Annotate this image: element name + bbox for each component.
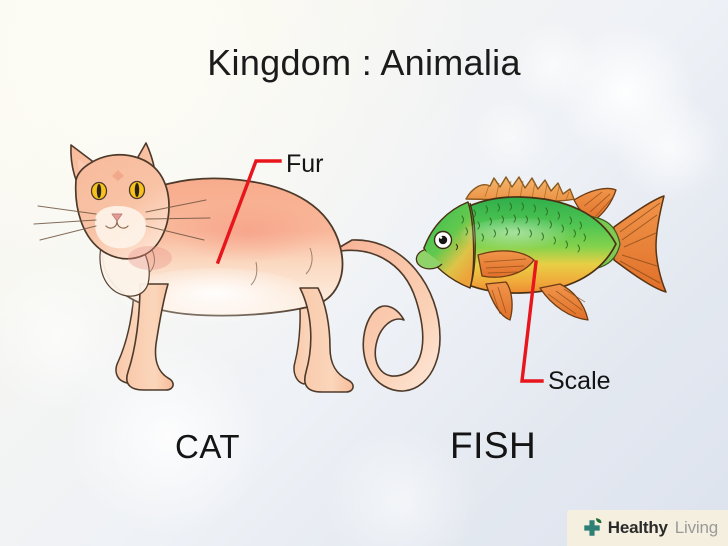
healthy-living-watermark: Healthy Living: [567, 510, 728, 546]
fur-pointer-line: [218, 161, 280, 262]
caption-cat: CAT: [175, 428, 240, 466]
caption-fish: FISH: [450, 425, 536, 467]
watermark-word-bold: Healthy: [608, 518, 668, 538]
page-title: Kingdom : Animalia: [0, 42, 728, 84]
label-scale: Scale: [548, 367, 611, 396]
green-cross-leaf-icon: [581, 517, 603, 539]
illustration-canvas: Kingdom : Animalia Fur Scale CAT FISH He…: [0, 0, 728, 546]
watermark-word-light: Living: [675, 518, 718, 538]
scale-pointer-line: [522, 262, 542, 381]
label-fur: Fur: [286, 150, 324, 179]
